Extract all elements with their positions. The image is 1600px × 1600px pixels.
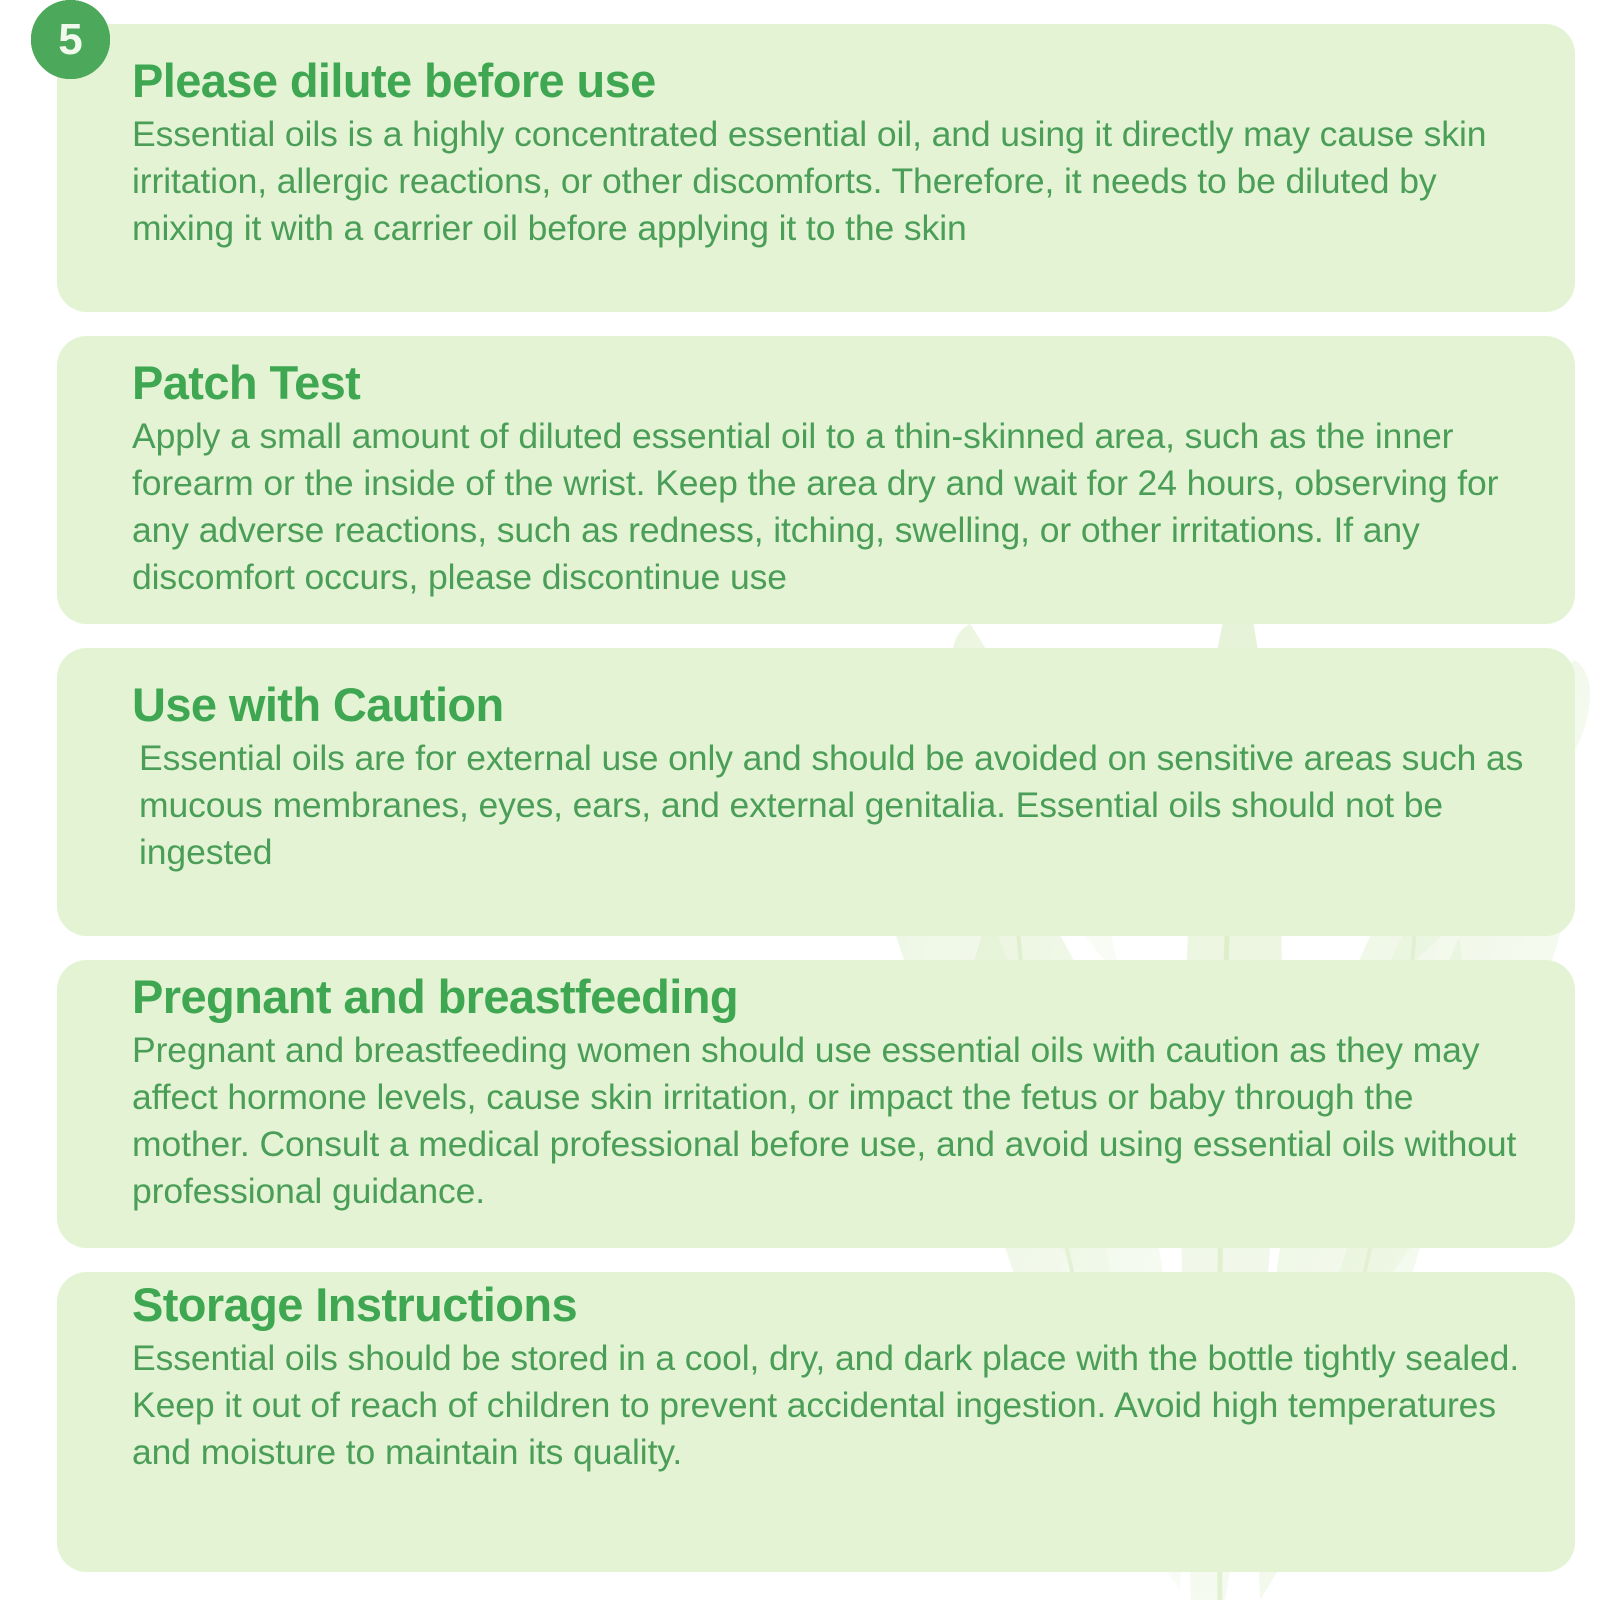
- step-body: Essential oils are for external use only…: [132, 735, 1532, 877]
- step-title: Use with Caution: [132, 680, 1545, 731]
- step-card-content: Storage Instructions Essential oils shou…: [57, 1272, 1575, 1476]
- step-body: Essential oils is a highly concentrated …: [132, 111, 1532, 253]
- step-body: Pregnant and breastfeeding women should …: [132, 1027, 1532, 1216]
- step-number-badge-5: 5: [31, 0, 110, 79]
- step-card-4: Pregnant and breastfeeding Pregnant and …: [57, 960, 1575, 1248]
- step-card-1: Please dilute before use Essential oils …: [57, 24, 1575, 312]
- infographic-page: Please dilute before use Essential oils …: [0, 0, 1600, 1600]
- step-card-content: Please dilute before use Essential oils …: [57, 24, 1575, 252]
- step-title: Pregnant and breastfeeding: [132, 972, 1545, 1023]
- steps-list: Please dilute before use Essential oils …: [0, 0, 1600, 1600]
- step-card-content: Use with Caution Essential oils are for …: [57, 648, 1575, 876]
- step-title: Storage Instructions: [132, 1280, 1545, 1331]
- step-card-content: Pregnant and breastfeeding Pregnant and …: [57, 960, 1575, 1216]
- step-title: Please dilute before use: [132, 56, 1545, 107]
- step-card-5: Storage Instructions Essential oils shou…: [57, 1272, 1575, 1572]
- step-card-2: Patch Test Apply a small amount of dilut…: [57, 336, 1575, 624]
- step-card-content: Patch Test Apply a small amount of dilut…: [57, 336, 1575, 602]
- step-body: Apply a small amount of diluted essentia…: [132, 413, 1532, 602]
- step-body: Essential oils should be stored in a coo…: [132, 1335, 1532, 1477]
- step-card-3: Use with Caution Essential oils are for …: [57, 648, 1575, 936]
- step-title: Patch Test: [132, 358, 1545, 409]
